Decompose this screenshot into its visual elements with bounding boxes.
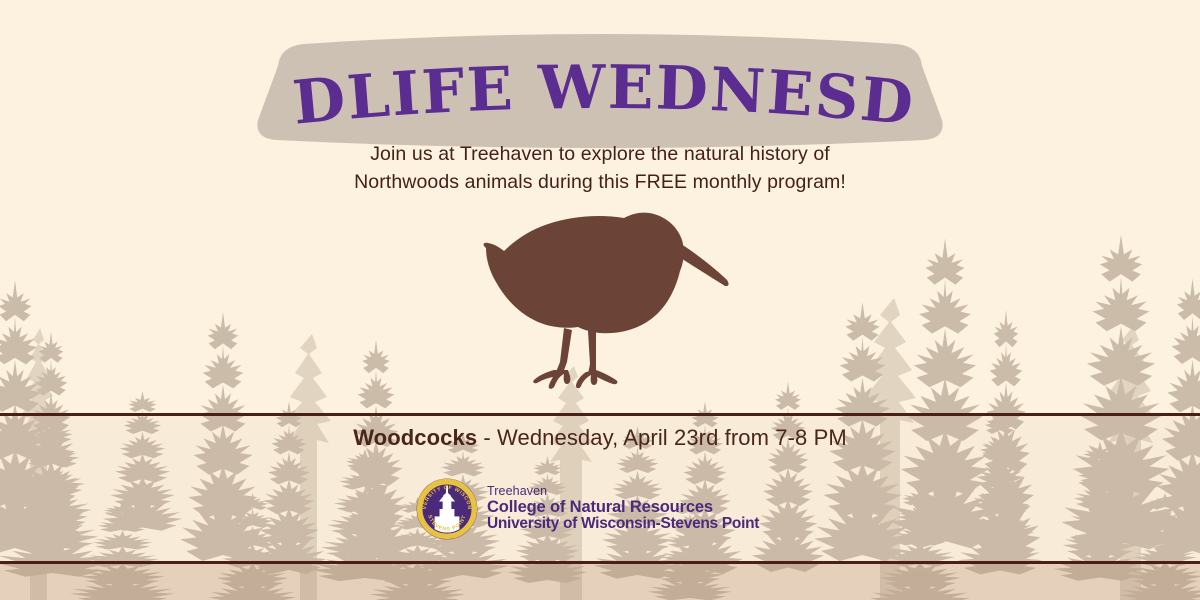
poster-subtitle: Join us at Treehaven to explore the natu… — [0, 140, 1200, 196]
logo-line-treehaven: Treehaven — [487, 485, 759, 498]
divider-rule-top — [0, 413, 1200, 416]
subtitle-line-1: Join us at Treehaven to explore the natu… — [0, 140, 1200, 168]
uwsp-treehaven-logo: UNIVERSITY OF WISCONSIN STEVENS POINT Tr… — [416, 478, 759, 540]
divider-rule-bottom — [0, 561, 1200, 564]
bottom-tint-band — [0, 564, 1200, 600]
logo-line-university: University of Wisconsin-Stevens Point — [487, 516, 759, 532]
poster-title: WILDLIFE WEDNESDAYS — [216, 0, 918, 140]
uwsp-seal-icon: UNIVERSITY OF WISCONSIN STEVENS POINT — [416, 478, 478, 540]
poster-canvas: WILDLIFE WEDNESDAYS Join us at Treehaven… — [0, 0, 1200, 600]
event-datetime: - Wednesday, April 23rd from 7-8 PM — [477, 425, 847, 450]
woodcock-silhouette-icon — [468, 212, 768, 400]
subtitle-line-2: Northwoods animals during this FREE mont… — [0, 168, 1200, 196]
logo-line-college: College of Natural Resources — [487, 499, 759, 516]
title-banner: WILDLIFE WEDNESDAYS — [252, 34, 948, 142]
event-detail-line: Woodcocks - Wednesday, April 23rd from 7… — [0, 425, 1200, 451]
logo-wordmark: Treehaven College of Natural Resources U… — [487, 485, 759, 532]
event-species: Woodcocks — [353, 425, 477, 450]
